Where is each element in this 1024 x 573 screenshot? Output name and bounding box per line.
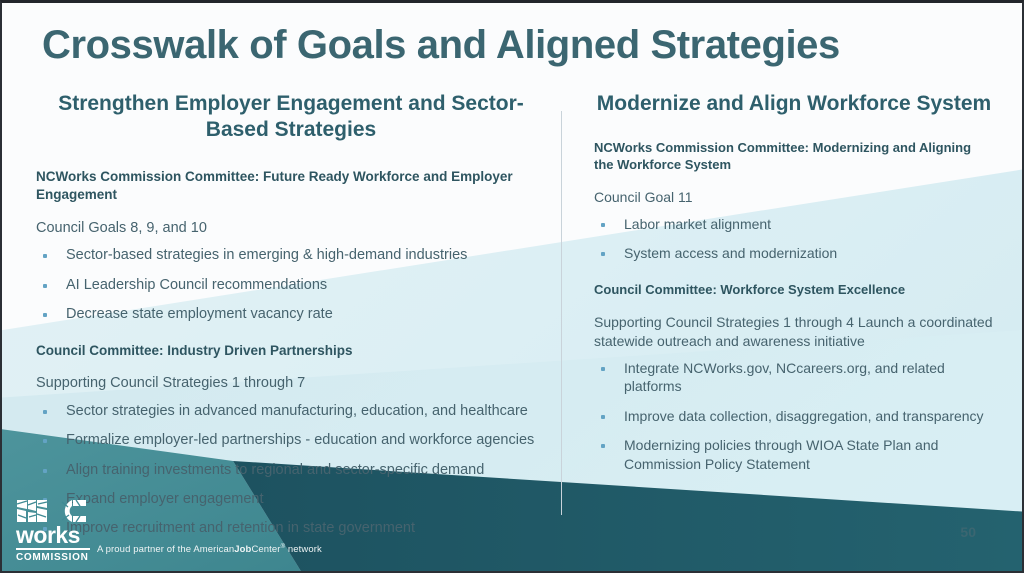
american-job-center-partner-line: A proud partner of the AmericanJobCenter… (97, 544, 322, 555)
list-item: Sector-based strategies in emerging & hi… (36, 246, 546, 265)
column-divider (561, 111, 562, 515)
left-block-2-bullets: Sector strategies in advanced manufactur… (36, 402, 546, 538)
slide-canvas: Crosswalk of Goals and Aligned Strategie… (0, 0, 1024, 573)
list-item: Expand employer engagement (36, 490, 546, 509)
right-block-2-subheading: Council Committee: Workforce System Exce… (594, 281, 994, 299)
left-column-heading: Strengthen Employer Engagement and Secto… (36, 91, 546, 142)
right-block-1-bullets: Labor market alignment System access and… (594, 215, 994, 263)
logo-works-text: works (16, 525, 90, 550)
partner-american: American (193, 544, 234, 555)
list-item: Integrate NCWorks.gov, NCcareers.org, an… (594, 359, 994, 396)
list-item: Align training investments to regional a… (36, 461, 546, 480)
nc-monogram-icon (16, 498, 90, 524)
left-block-2-lead: Supporting Council Strategies 1 through … (36, 374, 546, 394)
list-item: Labor market alignment (594, 215, 994, 234)
right-block-1-subheading: NCWorks Commission Committee: Modernizin… (594, 139, 994, 174)
logo-commission-text: COMMISSION (16, 552, 90, 563)
left-block-1-bullets: Sector-based strategies in emerging & hi… (36, 246, 546, 324)
right-block-2: Council Committee: Workforce System Exce… (594, 281, 994, 474)
left-block-1-lead: Council Goals 8, 9, and 10 (36, 219, 546, 239)
left-block-1: NCWorks Commission Committee: Future Rea… (36, 168, 546, 324)
list-item: System access and modernization (594, 244, 994, 263)
partner-job: Job (234, 544, 251, 555)
left-column: Strengthen Employer Engagement and Secto… (36, 91, 546, 557)
right-block-1-lead: Council Goal 11 (594, 188, 994, 207)
partner-center: Center (251, 544, 280, 555)
left-block-1-subheading: NCWorks Commission Committee: Future Rea… (36, 168, 546, 204)
page-number: 50 (960, 524, 976, 540)
ncworks-commission-logo: works COMMISSION (16, 498, 90, 563)
list-item: Sector strategies in advanced manufactur… (36, 402, 546, 421)
partner-prefix: A proud partner of the (97, 544, 193, 555)
list-item: Improve data collection, disaggregation,… (594, 407, 994, 426)
left-block-2: Council Committee: Industry Driven Partn… (36, 342, 546, 538)
list-item: Modernizing policies through WIOA State … (594, 436, 994, 473)
right-block-1: NCWorks Commission Committee: Modernizin… (594, 139, 994, 263)
left-block-2-subheading: Council Committee: Industry Driven Partn… (36, 342, 546, 360)
partner-suffix: network (285, 544, 322, 555)
right-column-heading: Modernize and Align Workforce System (594, 91, 994, 117)
list-item: Formalize employer-led partnerships - ed… (36, 431, 546, 450)
right-block-2-lead: Supporting Council Strategies 1 through … (594, 313, 994, 351)
slide-title: Crosswalk of Goals and Aligned Strategie… (42, 23, 840, 67)
list-item: AI Leadership Council recommendations (36, 276, 546, 295)
right-block-2-bullets: Integrate NCWorks.gov, NCcareers.org, an… (594, 359, 994, 474)
list-item: Improve recruitment and retention in sta… (36, 519, 546, 538)
right-column: Modernize and Align Workforce System NCW… (594, 91, 994, 492)
list-item: Decrease state employment vacancy rate (36, 305, 546, 324)
